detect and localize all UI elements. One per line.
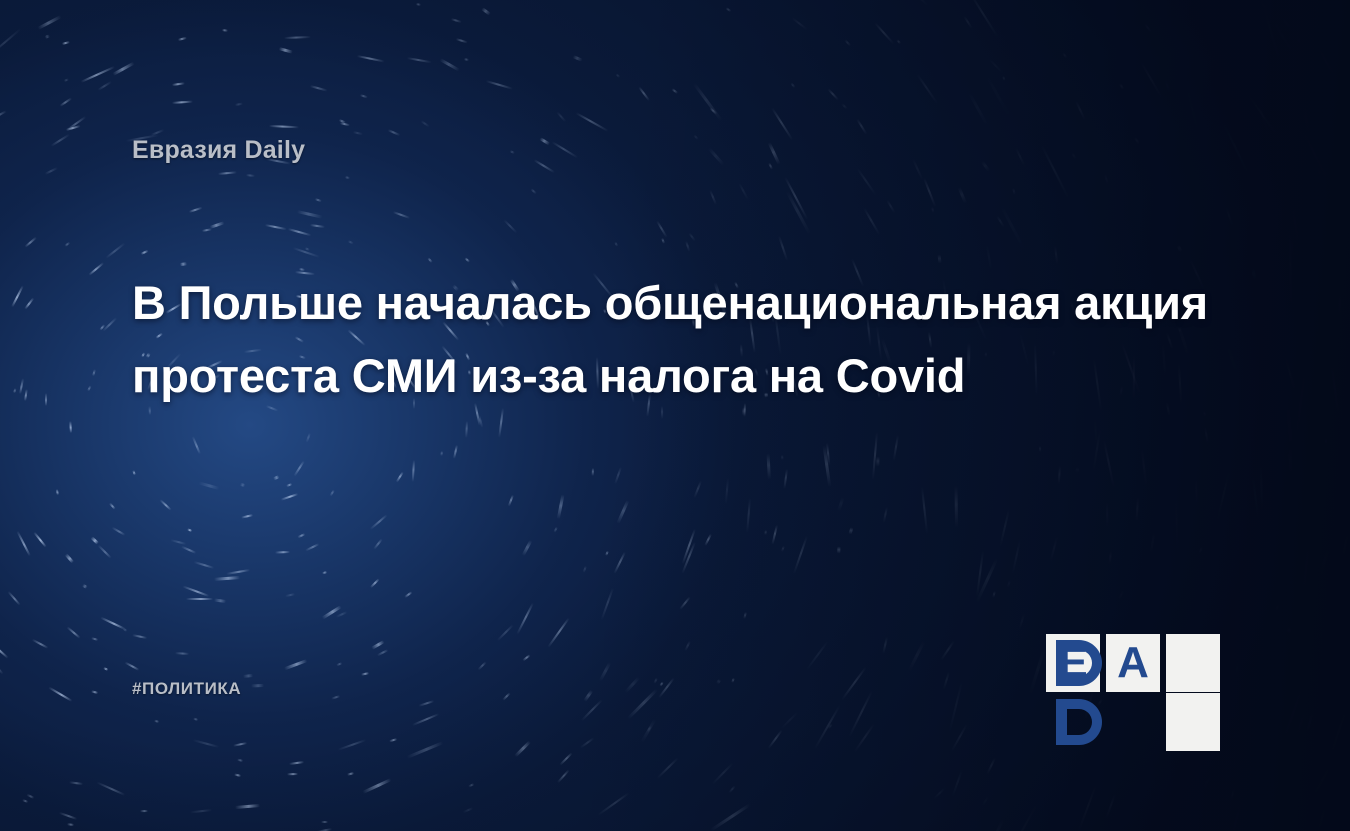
eadaily-logo: E A <box>1046 634 1221 692</box>
background-base-gradient <box>0 0 1350 831</box>
background-glow <box>0 0 1350 831</box>
logo-letter-a: A <box>1106 634 1160 692</box>
share-card: Евразия Daily В Польше началась общенаци… <box>0 0 1350 831</box>
logo-tile-d-top <box>1166 634 1220 692</box>
logo-letter-d-bottom-icon <box>1056 699 1102 745</box>
logo-tile-a: A <box>1106 634 1160 692</box>
category-hashtag: #ПОЛИТИКА <box>132 679 241 699</box>
star-trail-texture <box>0 0 1350 831</box>
logo-letter-d-top-icon <box>1056 640 1102 686</box>
article-headline: В Польше началась общенациональная акция… <box>132 266 1222 412</box>
background-vignette <box>0 0 1350 831</box>
logo-tile-d-bottom <box>1166 693 1220 751</box>
publisher-brand-label: Евразия Daily <box>132 136 305 165</box>
